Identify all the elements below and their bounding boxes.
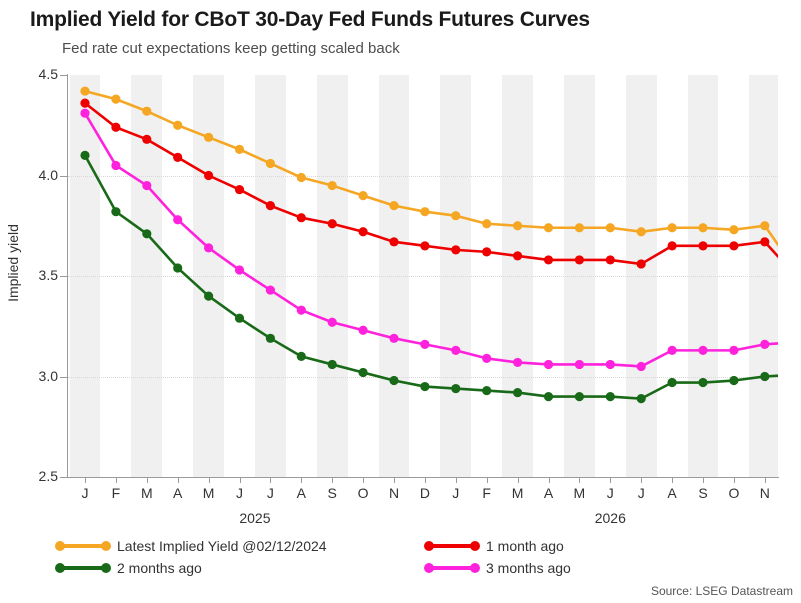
data-point <box>142 135 151 144</box>
x-axis-tick-label: D <box>413 485 437 501</box>
x-axis-tick <box>147 477 148 483</box>
data-point <box>637 394 646 403</box>
x-axis-tick <box>518 477 519 483</box>
data-point <box>111 123 120 132</box>
data-point <box>80 151 89 160</box>
x-axis-year-label: 2025 <box>215 510 295 526</box>
x-axis-tick <box>363 477 364 483</box>
legend-color-swatch <box>424 562 480 574</box>
data-point <box>204 133 213 142</box>
data-point <box>698 241 707 250</box>
data-point <box>328 360 337 369</box>
data-point <box>451 245 460 254</box>
data-point <box>235 145 244 154</box>
data-point <box>389 376 398 385</box>
x-axis-tick <box>301 477 302 483</box>
data-point <box>637 259 646 268</box>
data-point <box>544 360 553 369</box>
data-point <box>544 223 553 232</box>
data-point <box>266 334 275 343</box>
legend-label: Latest Implied Yield @02/12/2024 <box>117 536 327 556</box>
legend-marker-right <box>101 563 111 573</box>
data-point <box>266 201 275 210</box>
legend-label: 3 months ago <box>486 558 571 578</box>
data-point <box>451 346 460 355</box>
data-point <box>80 109 89 118</box>
data-point <box>513 251 522 260</box>
y-axis-tick <box>60 377 68 378</box>
data-point <box>482 247 491 256</box>
y-axis-tick <box>60 477 68 478</box>
legend-line <box>428 566 476 570</box>
y-axis-tick-label: 4.0 <box>18 167 58 183</box>
data-point <box>668 241 677 250</box>
data-point <box>575 223 584 232</box>
y-axis-tick-label: 3.5 <box>18 267 58 283</box>
data-point <box>111 95 120 104</box>
chart-container: Implied Yield for CBoT 30-Day Fed Funds … <box>0 0 801 603</box>
data-point <box>451 211 460 220</box>
data-point <box>513 388 522 397</box>
series-3-months-ago <box>80 109 778 371</box>
data-point <box>111 161 120 170</box>
legend-color-swatch <box>55 540 111 552</box>
data-point <box>389 237 398 246</box>
data-point <box>420 241 429 250</box>
legend-label: 2 months ago <box>117 558 202 578</box>
x-axis-tick <box>579 477 580 483</box>
data-point <box>575 255 584 264</box>
data-point <box>668 378 677 387</box>
x-axis-tick-label: A <box>537 485 561 501</box>
data-point <box>297 173 306 182</box>
data-point <box>420 382 429 391</box>
data-point <box>389 201 398 210</box>
data-point <box>142 107 151 116</box>
x-axis-tick-label: F <box>475 485 499 501</box>
data-point <box>80 99 89 108</box>
x-axis-tick-label: J <box>228 485 252 501</box>
data-point <box>606 392 615 401</box>
data-point <box>575 392 584 401</box>
x-axis-tick <box>85 477 86 483</box>
x-axis-tick <box>209 477 210 483</box>
data-point <box>760 221 769 230</box>
legend-marker-left <box>55 563 65 573</box>
data-point <box>729 241 738 250</box>
x-axis-tick-label: J <box>258 485 282 501</box>
y-axis-tick-label: 2.5 <box>18 468 58 484</box>
data-point <box>204 292 213 301</box>
series-line <box>85 113 778 366</box>
data-point <box>544 255 553 264</box>
data-point <box>698 378 707 387</box>
data-point <box>698 223 707 232</box>
x-axis-tick-label: M <box>506 485 530 501</box>
plot-area <box>68 75 778 477</box>
x-axis-tick-label: N <box>382 485 406 501</box>
x-axis-tick <box>641 477 642 483</box>
x-axis-tick <box>487 477 488 483</box>
series-2-months-ago <box>80 151 778 403</box>
legend-marker-right <box>470 563 480 573</box>
x-axis-tick <box>610 477 611 483</box>
data-point <box>328 318 337 327</box>
data-point <box>637 227 646 236</box>
data-point <box>235 314 244 323</box>
data-point <box>606 223 615 232</box>
legend-color-swatch <box>424 540 480 552</box>
data-point <box>266 285 275 294</box>
data-point <box>637 362 646 371</box>
data-point <box>359 368 368 377</box>
x-axis-tick <box>734 477 735 483</box>
data-point <box>760 237 769 246</box>
data-point <box>729 346 738 355</box>
legend-marker-left <box>424 541 434 551</box>
data-point <box>328 181 337 190</box>
chart-title: Implied Yield for CBoT 30-Day Fed Funds … <box>30 8 790 32</box>
series-line <box>85 155 778 398</box>
x-axis-tick <box>703 477 704 483</box>
x-axis-tick-label: A <box>289 485 313 501</box>
data-point <box>420 207 429 216</box>
legend-line <box>428 544 476 548</box>
data-point <box>760 340 769 349</box>
data-point <box>173 263 182 272</box>
x-axis-year-label: 2026 <box>570 510 650 526</box>
legend-marker-left <box>55 541 65 551</box>
data-point <box>698 346 707 355</box>
data-point <box>606 360 615 369</box>
chart-legend: Latest Implied Yield @02/12/20241 month … <box>0 536 801 582</box>
data-point <box>173 153 182 162</box>
data-point <box>389 334 398 343</box>
x-axis-tick <box>332 477 333 483</box>
data-point <box>173 121 182 130</box>
y-axis-tick <box>60 75 68 76</box>
data-point <box>142 229 151 238</box>
x-axis-tick <box>425 477 426 483</box>
data-point <box>111 207 120 216</box>
data-point <box>235 185 244 194</box>
y-axis-tick <box>60 276 68 277</box>
legend-marker-right <box>470 541 480 551</box>
data-point <box>204 243 213 252</box>
x-axis-tick-label: O <box>351 485 375 501</box>
data-point <box>204 171 213 180</box>
legend-line <box>59 566 107 570</box>
x-axis-tick <box>270 477 271 483</box>
data-point <box>729 225 738 234</box>
series-1-month-ago <box>80 99 778 276</box>
data-point <box>544 392 553 401</box>
legend-line <box>59 544 107 548</box>
x-axis-tick-label: O <box>722 485 746 501</box>
x-axis-tick-label: N <box>753 485 777 501</box>
data-point <box>297 306 306 315</box>
x-axis-tick-label: J <box>73 485 97 501</box>
y-axis-title: Implied yield <box>5 188 21 338</box>
x-axis-tick-label: S <box>320 485 344 501</box>
x-axis-tick-label: M <box>197 485 221 501</box>
x-axis-tick-label: S <box>691 485 715 501</box>
data-point <box>173 215 182 224</box>
data-point <box>668 223 677 232</box>
x-axis-tick <box>240 477 241 483</box>
data-point <box>359 326 368 335</box>
x-axis-tick-label: M <box>567 485 591 501</box>
chart-subtitle: Fed rate cut expectations keep getting s… <box>62 40 782 57</box>
legend-marker-left <box>424 563 434 573</box>
y-axis-tick <box>60 176 68 177</box>
x-axis-tick-label: A <box>660 485 684 501</box>
data-point <box>80 86 89 95</box>
x-axis-tick-label: F <box>104 485 128 501</box>
y-axis-tick-label: 4.5 <box>18 66 58 82</box>
data-point <box>420 340 429 349</box>
data-point <box>513 221 522 230</box>
legend-marker-right <box>101 541 111 551</box>
x-axis-tick <box>672 477 673 483</box>
data-point <box>451 384 460 393</box>
data-point <box>606 255 615 264</box>
data-point <box>575 360 584 369</box>
x-axis-tick-label: J <box>598 485 622 501</box>
data-point <box>297 213 306 222</box>
source-attribution: Source: LSEG Datastream <box>651 584 793 598</box>
x-axis-tick <box>178 477 179 483</box>
data-point <box>729 376 738 385</box>
data-point <box>668 346 677 355</box>
x-axis-tick <box>116 477 117 483</box>
x-axis-tick <box>549 477 550 483</box>
data-point <box>482 354 491 363</box>
x-axis-tick <box>394 477 395 483</box>
data-point <box>513 358 522 367</box>
x-axis-tick-label: A <box>166 485 190 501</box>
legend-label: 1 month ago <box>486 536 564 556</box>
data-point <box>297 352 306 361</box>
data-point <box>482 219 491 228</box>
x-axis-tick <box>765 477 766 483</box>
x-axis-tick-label: J <box>629 485 653 501</box>
x-axis-tick <box>456 477 457 483</box>
data-point <box>142 181 151 190</box>
data-point <box>266 159 275 168</box>
legend-color-swatch <box>55 562 111 574</box>
x-axis-tick-label: J <box>444 485 468 501</box>
data-point <box>482 386 491 395</box>
data-point <box>359 227 368 236</box>
data-point <box>235 265 244 274</box>
y-axis-tick-label: 3.0 <box>18 368 58 384</box>
data-point <box>328 219 337 228</box>
data-point <box>359 191 368 200</box>
series-layer <box>68 75 778 477</box>
data-point <box>760 372 769 381</box>
x-axis-tick-label: M <box>135 485 159 501</box>
